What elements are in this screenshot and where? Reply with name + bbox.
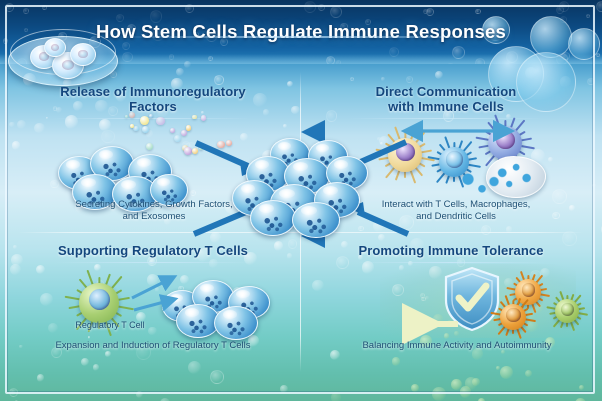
caption-line-1: Secreting Cytokines, Growth Factors,: [75, 199, 232, 210]
title-line-2: with Immune Cells: [388, 99, 504, 114]
immune-cells-illustration: [382, 112, 572, 196]
signal-molecule: [125, 115, 128, 118]
bidirectional-arrow: [410, 120, 506, 142]
stem-cell-cluster-left: [56, 140, 186, 202]
regulatory-t-cell-label: Regulatory T Cell: [40, 320, 180, 330]
caption-line-2: and Exosomes: [123, 211, 186, 222]
signal-molecule: [201, 115, 207, 121]
signal-molecule: [140, 116, 149, 125]
pathogen-green: [548, 292, 586, 330]
pathogen-orange-2: [492, 296, 534, 338]
caption-line-1: Interact with T Cells, Macrophages,: [382, 199, 531, 210]
central-stem-cell-cluster: [228, 138, 376, 236]
title-line-2: Factors: [129, 99, 177, 114]
balance-arrow: [396, 314, 466, 334]
signal-molecule: [192, 148, 198, 154]
signal-molecule: [192, 115, 197, 120]
title-line-1: Direct Communication: [376, 84, 517, 99]
treg-expansion-arrows: [124, 272, 176, 318]
caption-line-1: Balancing Immune Activity and Autoimmuni…: [362, 340, 551, 351]
signal-molecule: [217, 141, 225, 149]
caption-line-2: and Dendritic Cells: [416, 211, 496, 222]
quadrant-title-release-factors: Release of Immunoregulatory Factors: [24, 84, 282, 114]
caption-line-1: Expansion and Induction of Regulatory T …: [55, 340, 250, 351]
quadrant-caption-supporting-treg: Expansion and Induction of Regulatory T …: [14, 340, 292, 352]
signal-molecule: [170, 128, 175, 133]
signal-molecule: [181, 130, 187, 136]
page-title: How Stem Cells Regulate Immune Responses: [0, 21, 602, 43]
signal-molecule: [133, 126, 139, 132]
infographic-root: How Stem Cells Regulate Immune Responses…: [0, 0, 602, 401]
title-line-1: Promoting Immune Tolerance: [358, 243, 543, 258]
title-line-1: Release of Immunoregulatory: [60, 84, 245, 99]
signal-molecule: [156, 117, 165, 126]
quadrant-title-direct-communication: Direct Communication with Immune Cells: [322, 84, 570, 114]
signal-molecule: [199, 146, 204, 151]
section-underline: [356, 262, 546, 263]
signal-molecule: [149, 114, 153, 118]
title-line-1: Supporting Regulatory T Cells: [58, 243, 248, 258]
quadrant-title-supporting-treg: Supporting Regulatory T Cells: [22, 243, 284, 258]
signal-molecule: [130, 124, 134, 128]
quadrant-title-immune-tolerance: Promoting Immune Tolerance: [322, 243, 580, 258]
signal-molecule: [142, 126, 149, 133]
signal-vesicles: [460, 172, 500, 196]
signal-molecule: [186, 125, 191, 130]
title-underline: [112, 36, 490, 38]
quadrant-caption-immune-tolerance: Balancing Immune Activity and Autoimmuni…: [318, 340, 596, 352]
section-underline: [54, 262, 252, 263]
